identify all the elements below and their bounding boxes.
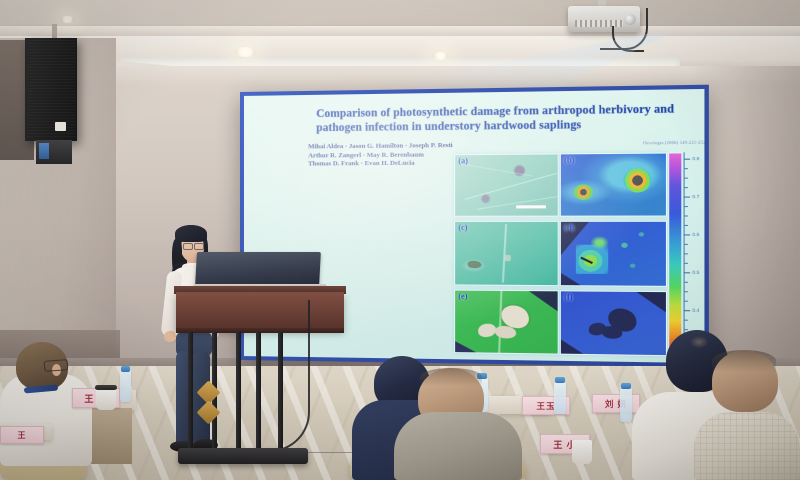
slide-journal-reference: Oecologia (2006) 149:221-232: [601, 140, 705, 146]
podium-cable: [262, 300, 310, 452]
attendee-body: [394, 412, 522, 480]
speaker-logo: [55, 122, 66, 131]
panel-label-a: (a): [458, 156, 468, 165]
bottle-cap: [121, 366, 130, 372]
podium: [176, 292, 344, 330]
ceiling-downlight-icon: [432, 52, 449, 60]
speaker-label: [39, 143, 49, 159]
wall-upper-band: [0, 66, 800, 86]
presenter-laptop: [195, 252, 321, 286]
colorbar-tick-label: 0.6: [692, 232, 699, 237]
figure-panel-c: (c): [454, 221, 559, 286]
speaker-grille: [27, 40, 75, 139]
figure-panel-a: (a): [454, 153, 559, 216]
colorbar-tick-label: 0.5: [692, 270, 699, 275]
fluorescence-speckle: [639, 232, 644, 236]
fluorescence-hotspot: [576, 245, 608, 274]
figure-colorbar: [668, 152, 682, 356]
panel-dark-corner: [561, 335, 587, 356]
panel-dark-corner: [455, 336, 480, 355]
water-bottle: [554, 382, 566, 414]
scale-bar: [516, 205, 546, 208]
water-bottle: [620, 388, 632, 422]
water-bottle: [120, 370, 131, 402]
figure-panel-b: (b): [560, 153, 667, 217]
podium-base-plate: [178, 448, 308, 464]
herbivory-hole: [501, 305, 529, 328]
coffee-cup-lid: [95, 385, 117, 390]
ceiling-downlight-icon: [60, 16, 75, 23]
panel-label-e: (e): [458, 292, 467, 301]
figure-panel-e: (e): [454, 290, 559, 355]
herbivory-hole: [602, 326, 623, 339]
leaf-damage: [505, 255, 511, 261]
herbivory-hole: [478, 324, 496, 338]
coffee-cup: [96, 388, 116, 410]
podium-leg: [236, 332, 241, 460]
lesion-hotspot: [574, 184, 593, 200]
panel-dark-corner: [529, 291, 559, 312]
figure-panel-f: (f): [560, 290, 667, 356]
herbivory-hole: [495, 326, 516, 339]
ceiling-downlight-icon: [234, 47, 257, 57]
bottle-cap: [621, 383, 631, 389]
attendee-hair: [712, 350, 776, 372]
leaf-damage: [468, 261, 482, 268]
lesion-hotspot: [623, 168, 651, 192]
attendee-glasses: [44, 359, 69, 372]
panel-label-d: (d): [564, 223, 574, 232]
colorbar-tick-label: 0.4: [692, 308, 699, 313]
leaf-vein: [460, 163, 533, 176]
panel-dark-corner: [636, 292, 667, 313]
fluorescence-speckle: [621, 243, 628, 248]
panel-label-b: (b): [564, 155, 574, 164]
slide-title: Comparison of photosynthetic damage from…: [316, 102, 685, 135]
coffee-cup: [572, 440, 592, 464]
presenter-glasses: [194, 243, 204, 250]
name-placard: 王: [0, 426, 44, 444]
name-placard: 刘 妍: [592, 394, 640, 413]
slide-figure: (a) (b) (c): [454, 152, 683, 356]
attendee-shirt-pattern: [694, 412, 800, 480]
colorbar-tick-label: 0.7: [692, 194, 699, 199]
attendee-hair: [420, 368, 482, 386]
fluorescence-speckle: [630, 264, 635, 268]
bottle-cap: [555, 377, 565, 383]
leaf-midrib: [498, 291, 502, 353]
podium-leg: [188, 332, 193, 460]
leaf-midrib: [502, 224, 507, 283]
panel-label-c: (c): [458, 223, 467, 232]
figure-panel-d: (d): [560, 221, 667, 287]
presenter-hand: [163, 330, 177, 343]
leaf-vein: [465, 173, 557, 200]
conference-room-photo: Comparison of photosynthetic damage from…: [0, 0, 800, 480]
fluorescence-hotspot: [591, 236, 608, 249]
colorbar-tick-label: 0.8: [692, 156, 699, 161]
panel-label-f: (f): [564, 292, 573, 301]
attendee-scalp: [690, 336, 708, 348]
podium-leg: [256, 332, 261, 460]
presenter-glasses: [183, 243, 193, 250]
